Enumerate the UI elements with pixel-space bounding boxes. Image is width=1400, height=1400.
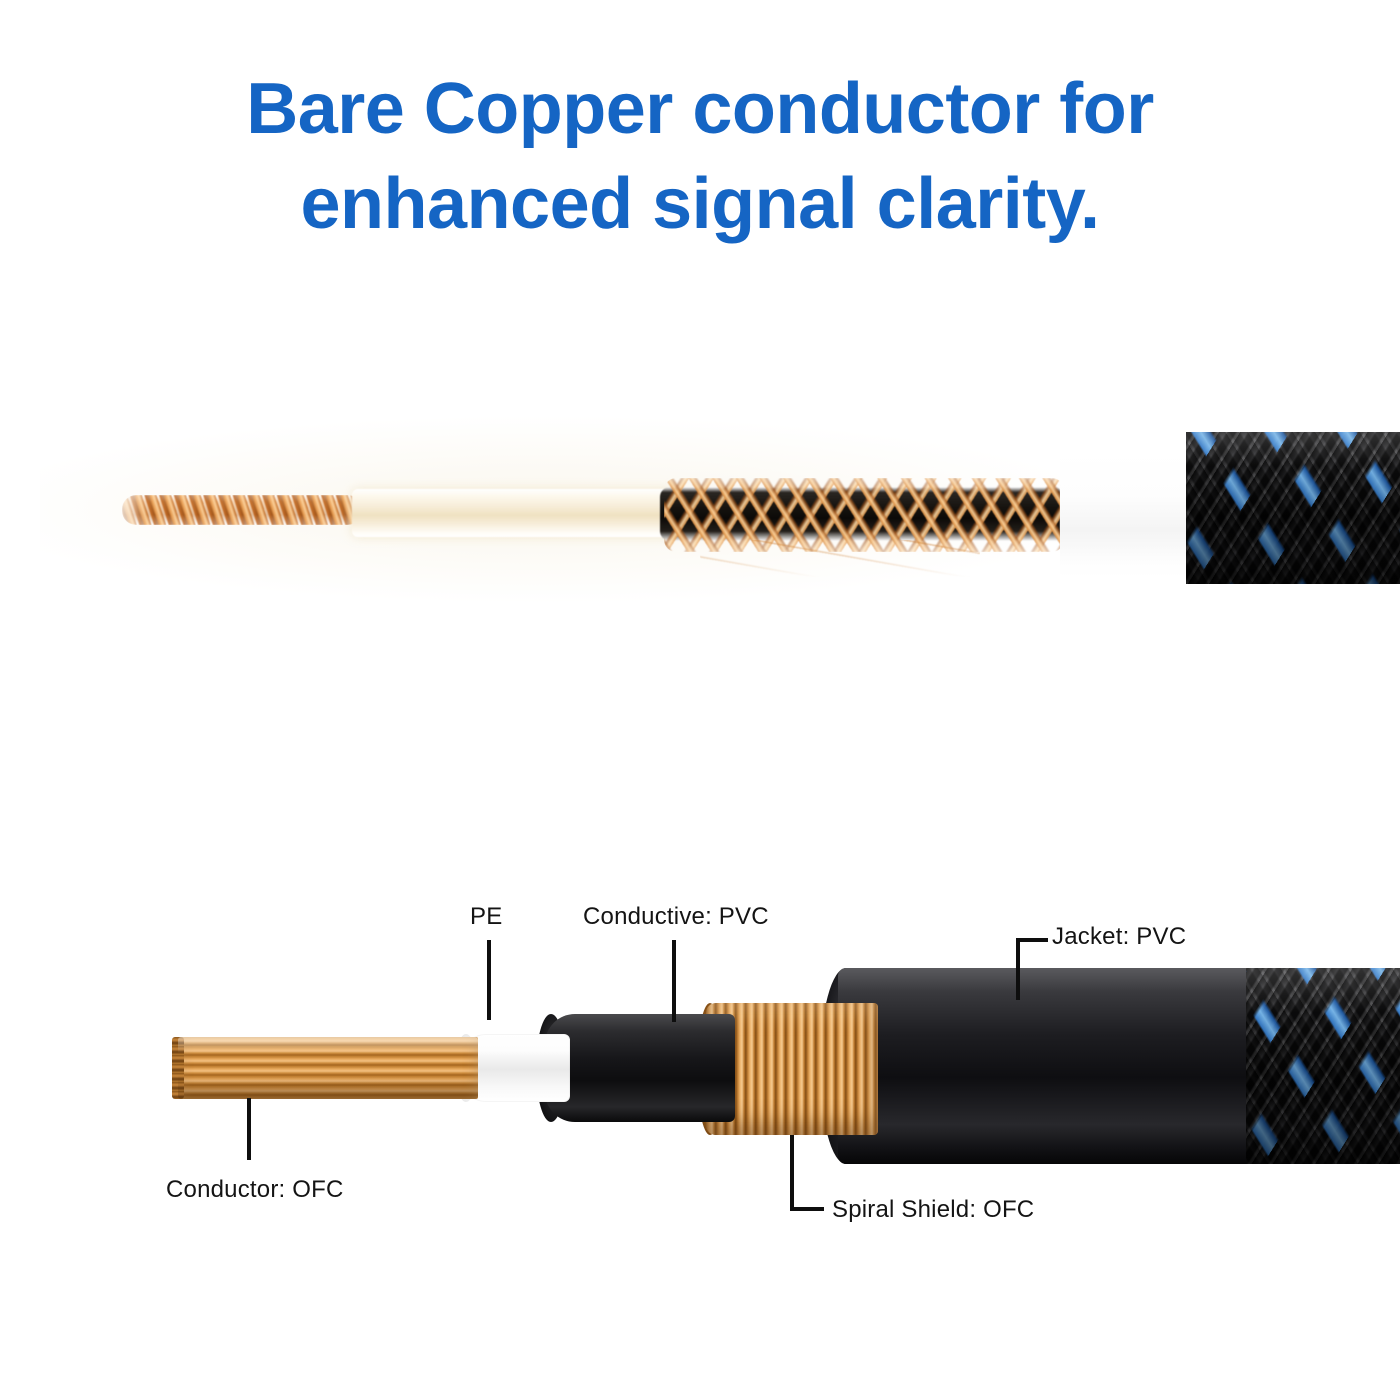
leader-line-jacket-horizontal xyxy=(1016,938,1048,942)
label-spiral-shield-ofc: Spiral Shield: OFC xyxy=(832,1196,1034,1224)
page-title-line-1: Bare Copper conductor for xyxy=(0,62,1400,157)
leader-line-conductor xyxy=(247,1098,251,1160)
photo-shield-stray-strands xyxy=(700,540,980,584)
leader-line-spiral-shield-horizontal xyxy=(790,1207,824,1211)
label-conductive-pvc: Conductive: PVC xyxy=(583,903,769,931)
leader-line-spiral-shield-vertical xyxy=(790,1135,794,1211)
diagram-jacket-pvc xyxy=(838,968,1258,1164)
leader-line-jacket xyxy=(1016,938,1048,1000)
leader-line-conductive-pvc xyxy=(672,940,676,1022)
photo-braided-jacket xyxy=(1186,432,1400,584)
leader-line-jacket-vertical xyxy=(1016,938,1020,1000)
leader-line-pe xyxy=(487,940,491,1020)
leader-line-spiral-shield xyxy=(790,1135,824,1211)
photo-bare-copper-conductor xyxy=(122,495,362,525)
label-jacket-pvc: Jacket: PVC xyxy=(1052,923,1186,951)
diagram-braid-cylinder-shading xyxy=(1246,968,1400,1164)
page-title: Bare Copper conductor for enhanced signa… xyxy=(0,62,1400,252)
photo-braid-cylinder-shading xyxy=(1186,432,1400,584)
diagram-conductive-pvc xyxy=(545,1014,735,1122)
page-title-line-2: enhanced signal clarity. xyxy=(0,157,1400,252)
photo-white-jacket-stub xyxy=(1060,453,1186,577)
diagram-braided-jacket xyxy=(1246,968,1400,1164)
label-conductor-ofc: Conductor: OFC xyxy=(166,1176,344,1204)
diagram-conductor-ofc xyxy=(178,1037,478,1099)
label-pe: PE xyxy=(470,903,502,931)
photo-pe-insulation xyxy=(352,489,672,537)
